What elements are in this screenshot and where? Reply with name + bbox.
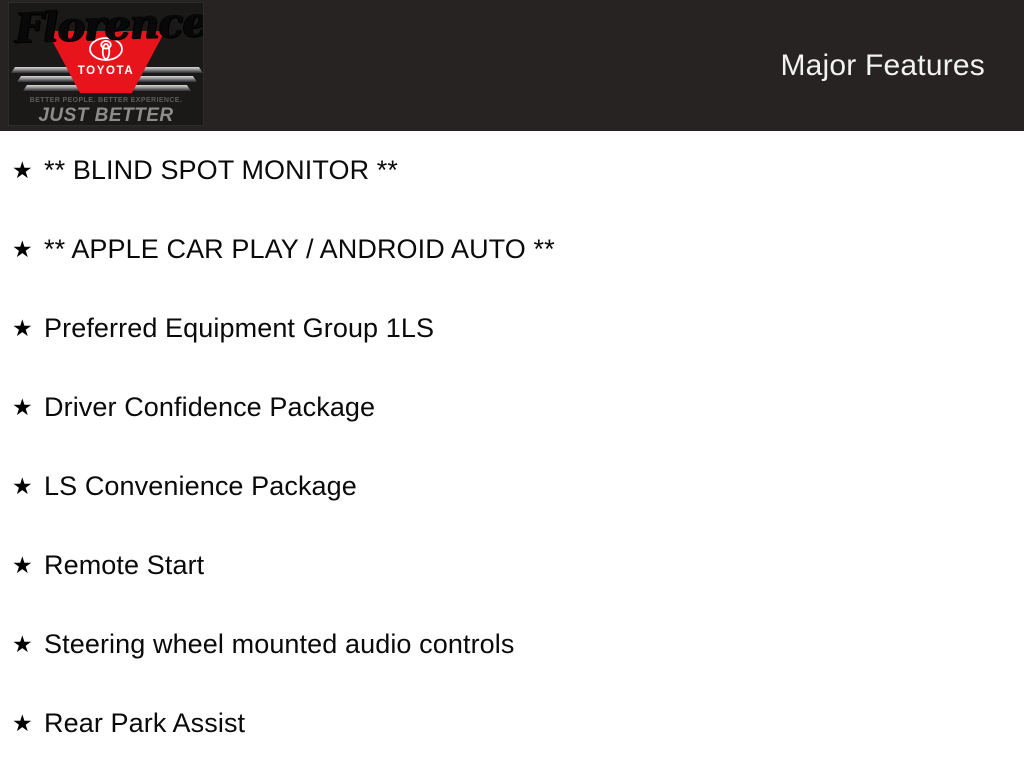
dealer-logo[interactable]: TOYOTA Florence BETTER PEOPLE. BETTER EX…	[8, 2, 204, 126]
feature-item: ★Driver Confidence Package	[0, 368, 1024, 447]
feature-item: ★Rear Park Assist	[0, 684, 1024, 763]
feature-item: ★Steering wheel mounted audio controls	[0, 605, 1024, 684]
page-header: TOYOTA Florence BETTER PEOPLE. BETTER EX…	[0, 0, 1024, 131]
toyota-brand-text: TOYOTA	[9, 65, 203, 77]
feature-item: ★Preferred Equipment Group 1LS	[0, 289, 1024, 368]
star-bullet-icon: ★	[12, 289, 34, 368]
star-bullet-icon: ★	[12, 368, 34, 447]
star-bullet-icon: ★	[12, 131, 34, 210]
major-features-page: TOYOTA Florence BETTER PEOPLE. BETTER EX…	[0, 0, 1024, 768]
star-bullet-icon: ★	[12, 526, 34, 605]
logo-tagline-top: BETTER PEOPLE. BETTER EXPERIENCE.	[9, 97, 203, 104]
feature-label: Driver Confidence Package	[44, 368, 375, 447]
feature-label: LS Convenience Package	[44, 447, 357, 526]
feature-item: ★LS Convenience Package	[0, 447, 1024, 526]
feature-label: Preferred Equipment Group 1LS	[44, 289, 434, 368]
feature-label: Rear Park Assist	[44, 684, 245, 763]
feature-list: ★** BLIND SPOT MONITOR **★** APPLE CAR P…	[0, 131, 1024, 763]
star-bullet-icon: ★	[12, 447, 34, 526]
feature-label: Remote Start	[44, 526, 204, 605]
feature-item: ★** APPLE CAR PLAY / ANDROID AUTO **	[0, 210, 1024, 289]
star-bullet-icon: ★	[12, 605, 34, 684]
star-bullet-icon: ★	[12, 684, 34, 763]
page-title: Major Features	[780, 0, 985, 131]
star-bullet-icon: ★	[12, 210, 34, 289]
feature-label: Steering wheel mounted audio controls	[44, 605, 515, 684]
feature-item: ★Remote Start	[0, 526, 1024, 605]
feature-item: ★** BLIND SPOT MONITOR **	[0, 131, 1024, 210]
feature-label: ** APPLE CAR PLAY / ANDROID AUTO **	[44, 210, 555, 289]
dealer-name-script: Florence	[14, 2, 204, 52]
logo-tagline-main: JUST BETTER	[9, 105, 203, 126]
feature-label: ** BLIND SPOT MONITOR **	[44, 131, 398, 210]
